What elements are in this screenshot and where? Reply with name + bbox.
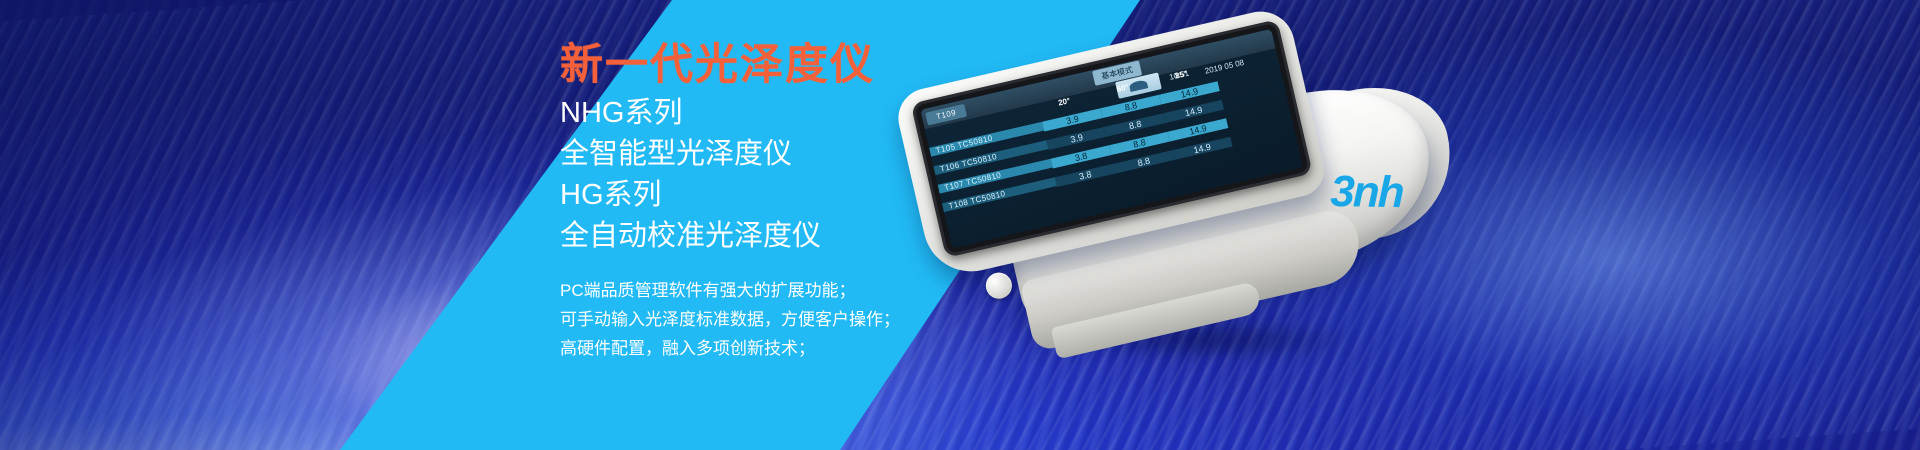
- subheading-nhg-series: NHG系列: [560, 99, 682, 128]
- subheading-nhg-desc: 全智能型光泽度仪: [560, 140, 792, 169]
- brand-logo: 3nh: [1330, 167, 1403, 218]
- screen-tab-label[interactable]: T109: [925, 103, 967, 125]
- subheading-hg-desc: 全自动校准光泽度仪: [560, 222, 821, 251]
- banner-headline: 新一代光泽度仪: [560, 44, 875, 87]
- subheading-hg-series: HG系列: [560, 181, 662, 210]
- device-body-group: T109 基本模式 10:51 2019 05 08 20° 60° 85° T…: [841, 0, 1540, 450]
- measure-button[interactable]: [983, 270, 1014, 301]
- gloss-meter-device: T109 基本模式 10:51 2019 05 08 20° 60° 85° T…: [880, 10, 1500, 430]
- feature-line-3: 高硬件配置，融入多项创新技术；: [560, 340, 815, 357]
- feature-line-2: 可手动输入光泽度标准数据，方便客户操作；: [560, 311, 900, 328]
- feature-line-1: PC端品质管理软件有强大的扩展功能；: [560, 282, 856, 299]
- product-banner: 新一代光泽度仪 NHG系列 全智能型光泽度仪 HG系列 全自动校准光泽度仪 PC…: [0, 0, 1920, 450]
